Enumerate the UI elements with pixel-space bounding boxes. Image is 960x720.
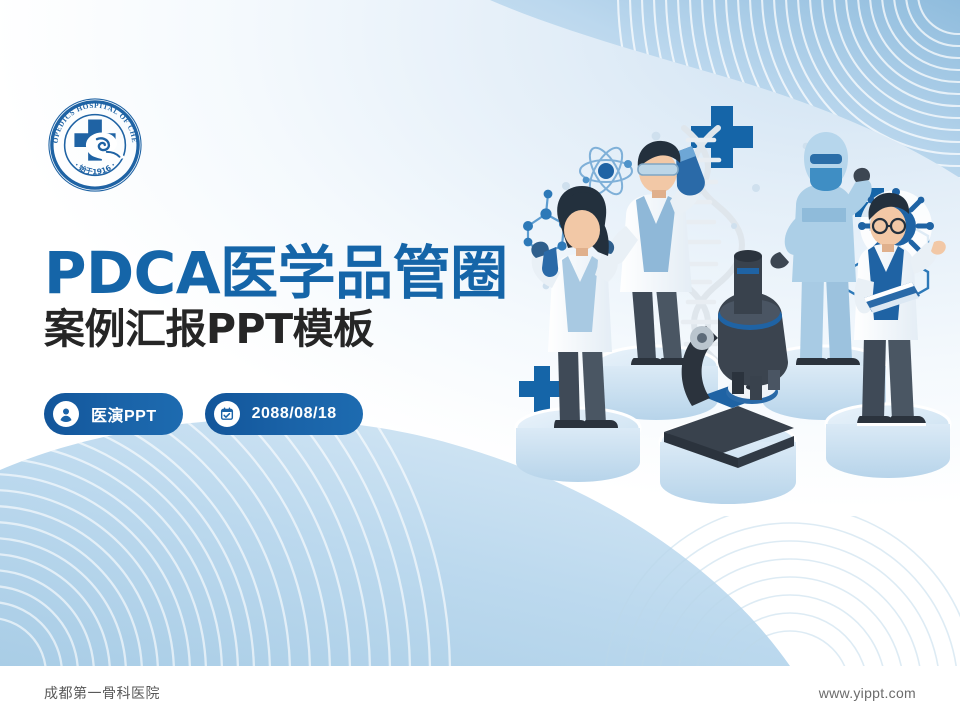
footer-hospital-name: 成都第一骨科医院 bbox=[44, 683, 160, 703]
page-subtitle: 案例汇报PPT模板 bbox=[44, 307, 564, 353]
author-badge[interactable]: 医演PPT bbox=[44, 393, 183, 435]
meta-badges: 医演PPT 2088/08/18 bbox=[44, 393, 363, 435]
medical-team-illustration bbox=[506, 76, 960, 506]
slide-footer: 成都第一骨科医院 www.yippt.com bbox=[0, 666, 960, 720]
user-icon bbox=[53, 401, 79, 427]
date-badge-label: 2088/08/18 bbox=[252, 405, 337, 423]
date-badge[interactable]: 2088/08/18 bbox=[205, 393, 363, 435]
author-badge-label: 医演PPT bbox=[91, 402, 157, 426]
podium-front-right bbox=[826, 404, 950, 478]
title-block: PDCA医学品管圈 案例汇报PPT模板 bbox=[44, 243, 564, 353]
bottom-right-ripple-decoration bbox=[540, 516, 960, 666]
test-tube-icon bbox=[676, 146, 705, 196]
hospital-seal-logo-icon: ORTHOPEDICS HOSPITAL OF CHENGDU · 始于1916… bbox=[46, 96, 144, 194]
footer-website[interactable]: www.yippt.com bbox=[819, 685, 916, 701]
page-title: PDCA医学品管圈 bbox=[44, 243, 564, 303]
slide-canvas: ORTHOPEDICS HOSPITAL OF CHENGDU · 始于1916… bbox=[0, 0, 960, 720]
hospital-logo: ORTHOPEDICS HOSPITAL OF CHENGDU · 始于1916… bbox=[46, 96, 144, 194]
calendar-icon bbox=[214, 401, 240, 427]
svg-text:· 始于1916 ·: · 始于1916 · bbox=[73, 160, 118, 176]
illustration-artwork bbox=[506, 76, 960, 506]
